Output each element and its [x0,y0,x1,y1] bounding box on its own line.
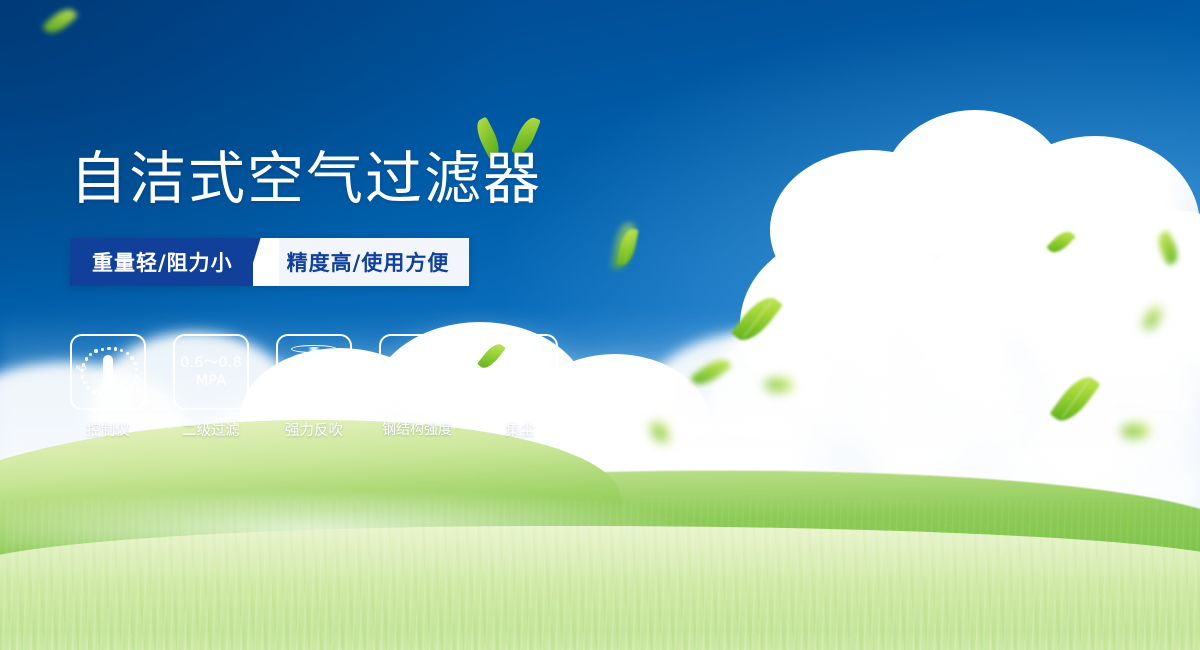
tagline-divider-icon [253,238,279,286]
feature-label: 控制仪 [86,419,130,440]
feature-item-control[interactable]: NO OFF 控制仪 [70,334,146,440]
tagline-badge-bar: 重量轻/阻力小 精度高/使用方便 [70,238,469,286]
gauge-icon: NO OFF [77,343,139,401]
feature-label: 强力反吹 [285,419,343,440]
product-banner: 自洁式空气过滤器 重量轻/阻力小 精度高/使用方便 [0,0,1200,650]
pressure-icon: 0.6～0.8 MPA [180,354,242,390]
feature-icon-box: Air [482,334,558,410]
feature-item-dust[interactable]: Air 集尘 [482,334,558,440]
coil-filter-icon [287,344,341,400]
page-title: 自洁式空气过滤器 [70,148,542,210]
feature-icon-box: 3～8MM 钢板 [379,334,455,410]
gauge-label-no: NO [76,365,87,372]
feature-item-pressure[interactable]: 0.6～0.8 MPA 二级过滤 [173,334,249,440]
feature-icon-box: 0.6～0.8 MPA [173,334,249,410]
feature-label: 钢结构强度 [382,419,452,439]
feature-item-backblow[interactable]: 强力反吹 [276,334,352,440]
banner-content: 自洁式空气过滤器 重量轻/阻力小 精度高/使用方便 [0,0,1200,650]
feature-icon-box [276,334,352,410]
gauge-label-off: OFF [126,390,140,397]
feature-label: 二级过滤 [182,419,240,440]
steel-plate-icon: 3～8MM 钢板 [388,354,447,390]
tagline-right: 精度高/使用方便 [279,238,470,286]
feature-item-steel[interactable]: 3～8MM 钢板 钢结构强度 [379,334,455,440]
feature-list: NO OFF 控制仪 0.6～0.8 MPA 二级过滤 [70,334,558,440]
air-cloud-icon: Air [489,344,551,400]
feature-label: 集尘 [506,419,535,440]
air-label: Air [489,389,551,402]
tagline-left: 重量轻/阻力小 [70,238,253,286]
feature-icon-box: NO OFF [70,334,146,410]
